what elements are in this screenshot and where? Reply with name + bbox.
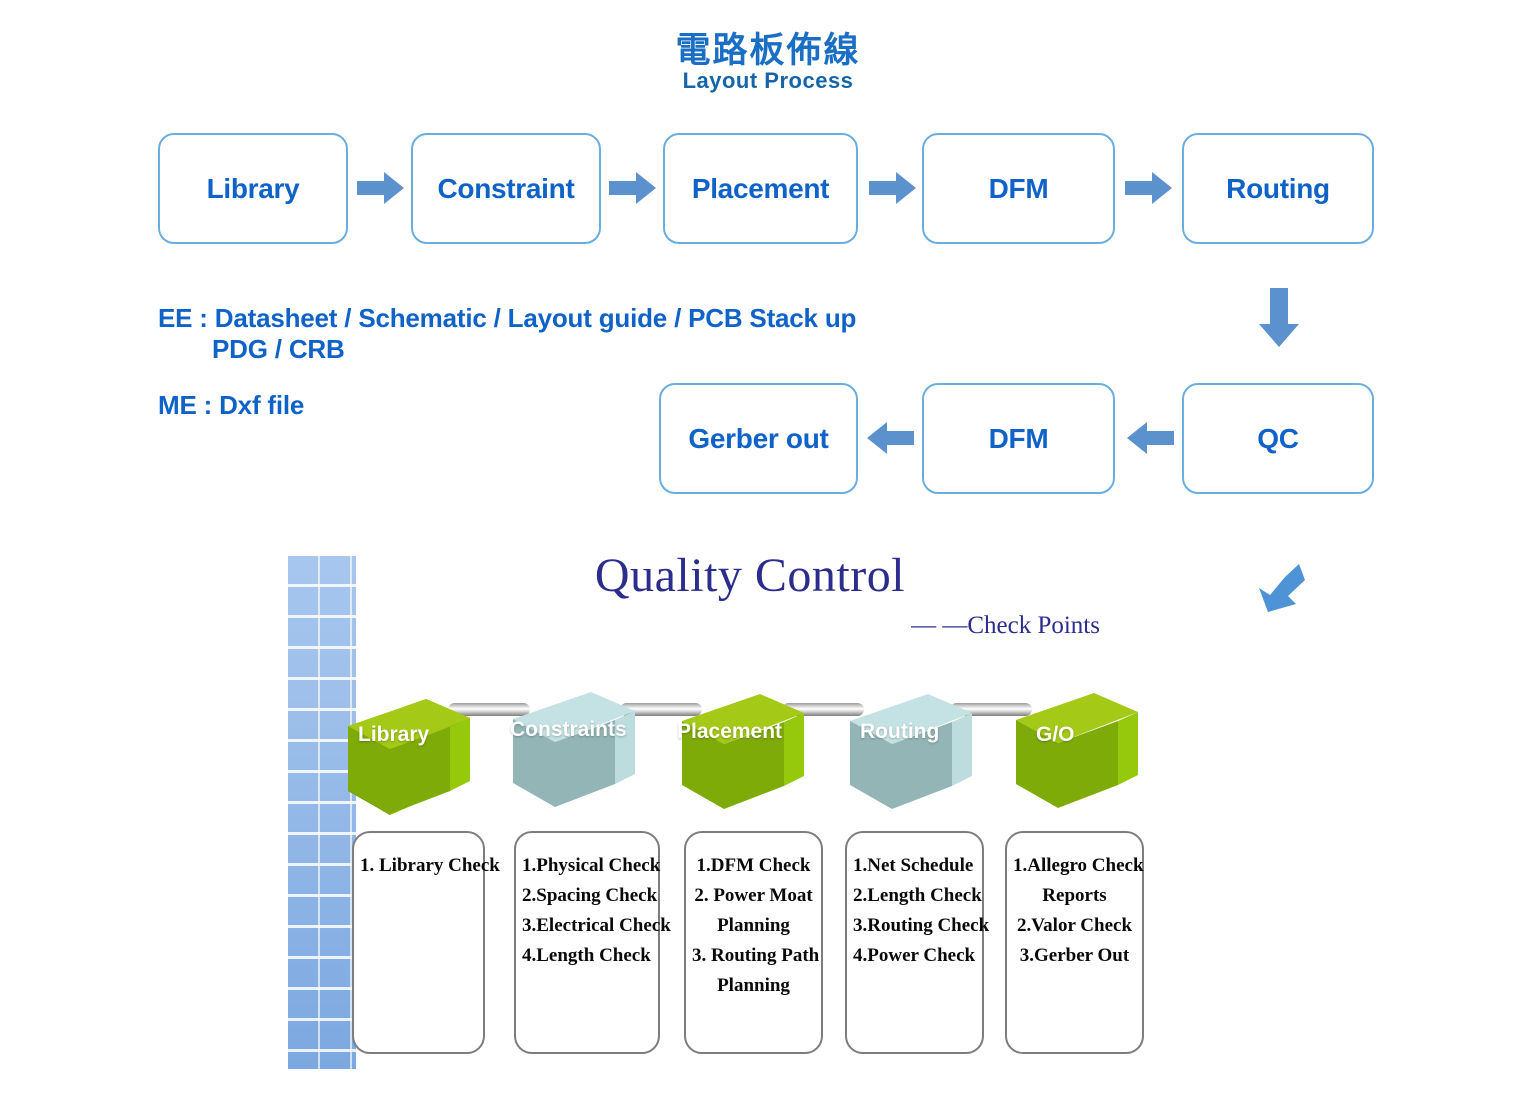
check-item: 1.DFM Check <box>692 851 815 881</box>
ee-inputs-line1: EE : Datasheet / Schematic / Layout guid… <box>158 303 856 334</box>
check-item: Reports <box>1013 881 1136 911</box>
check-item: 3. Routing Path <box>692 941 815 971</box>
check-item: 1.Allegro Check <box>1013 851 1136 881</box>
flow-box-gerber-out[interactable]: Gerber out <box>659 383 858 494</box>
arrow-diagonal-down-left-icon <box>1255 562 1305 614</box>
arrow-right-icon <box>357 171 405 205</box>
check-points-subtitle: — —Check Points <box>700 612 1100 640</box>
check-card-placement[interactable]: 1.DFM Check2. Power MoatPlanning3. Routi… <box>684 831 823 1054</box>
flow-box-constraint[interactable]: Constraint <box>411 133 601 244</box>
check-item: 2.Spacing Check <box>522 881 652 911</box>
cube-3d-shape <box>1008 658 1158 818</box>
flow-box-placement[interactable]: Placement <box>663 133 858 244</box>
arrow-right-icon <box>609 171 657 205</box>
flow-box-dfm-bottom[interactable]: DFM <box>922 383 1115 494</box>
cube-go[interactable]: G/O <box>1008 658 1158 818</box>
check-item: 3.Gerber Out <box>1013 941 1136 971</box>
cube-label-go: G/O <box>1036 723 1075 747</box>
cube-label-library: Library <box>358 723 429 747</box>
check-item: 4.Power Check <box>853 941 976 971</box>
cube-label-routing: Routing <box>860 720 939 744</box>
cube-routing[interactable]: Routing <box>842 650 992 810</box>
quality-control-title: Quality Control <box>560 548 940 603</box>
ee-inputs-line2: PDG / CRB <box>212 334 345 365</box>
flow-box-routing[interactable]: Routing <box>1182 133 1374 244</box>
cube-constraints[interactable]: Constraints <box>505 648 655 808</box>
check-item: 1.Physical Check <box>522 851 652 881</box>
check-item: 1. Library Check <box>360 851 477 881</box>
check-item: 2.Length Check <box>853 881 976 911</box>
cube-label-placement: Placement <box>677 720 782 744</box>
check-item: 1.Net Schedule <box>853 851 976 881</box>
cube-label-constraints: Constraints <box>510 718 627 742</box>
check-item: 2. Power Moat <box>692 881 815 911</box>
check-item: Planning <box>692 911 815 941</box>
arrow-down-icon <box>1258 288 1300 348</box>
arrow-right-icon <box>1125 171 1173 205</box>
arrow-left-icon <box>1126 421 1174 455</box>
arrow-right-icon <box>869 171 917 205</box>
check-item: 2.Valor Check <box>1013 911 1136 941</box>
me-inputs-line: ME : Dxf file <box>158 390 304 421</box>
check-item: 3.Routing Check <box>853 911 976 941</box>
flow-box-dfm-top[interactable]: DFM <box>922 133 1115 244</box>
check-item: 3.Electrical Check <box>522 911 652 941</box>
check-card-constraints[interactable]: 1.Physical Check2.Spacing Check3.Electri… <box>514 831 660 1054</box>
check-item: 4.Length Check <box>522 941 652 971</box>
flow-box-qc[interactable]: QC <box>1182 383 1374 494</box>
cube-placement[interactable]: Placement <box>674 650 824 810</box>
page-title-chinese: 電路板佈線 <box>0 22 1536 73</box>
flow-box-library[interactable]: Library <box>158 133 348 244</box>
check-card-routing[interactable]: 1.Net Schedule2.Length Check3.Routing Ch… <box>845 831 984 1054</box>
cube-library[interactable]: Library <box>338 655 488 815</box>
arrow-left-icon <box>866 421 914 455</box>
check-card-go[interactable]: 1.Allegro CheckReports2.Valor Check3.Ger… <box>1005 831 1144 1054</box>
check-item: Planning <box>692 971 815 1001</box>
check-card-library[interactable]: 1. Library Check <box>352 831 485 1054</box>
page-subtitle-english: Layout Process <box>0 68 1536 94</box>
